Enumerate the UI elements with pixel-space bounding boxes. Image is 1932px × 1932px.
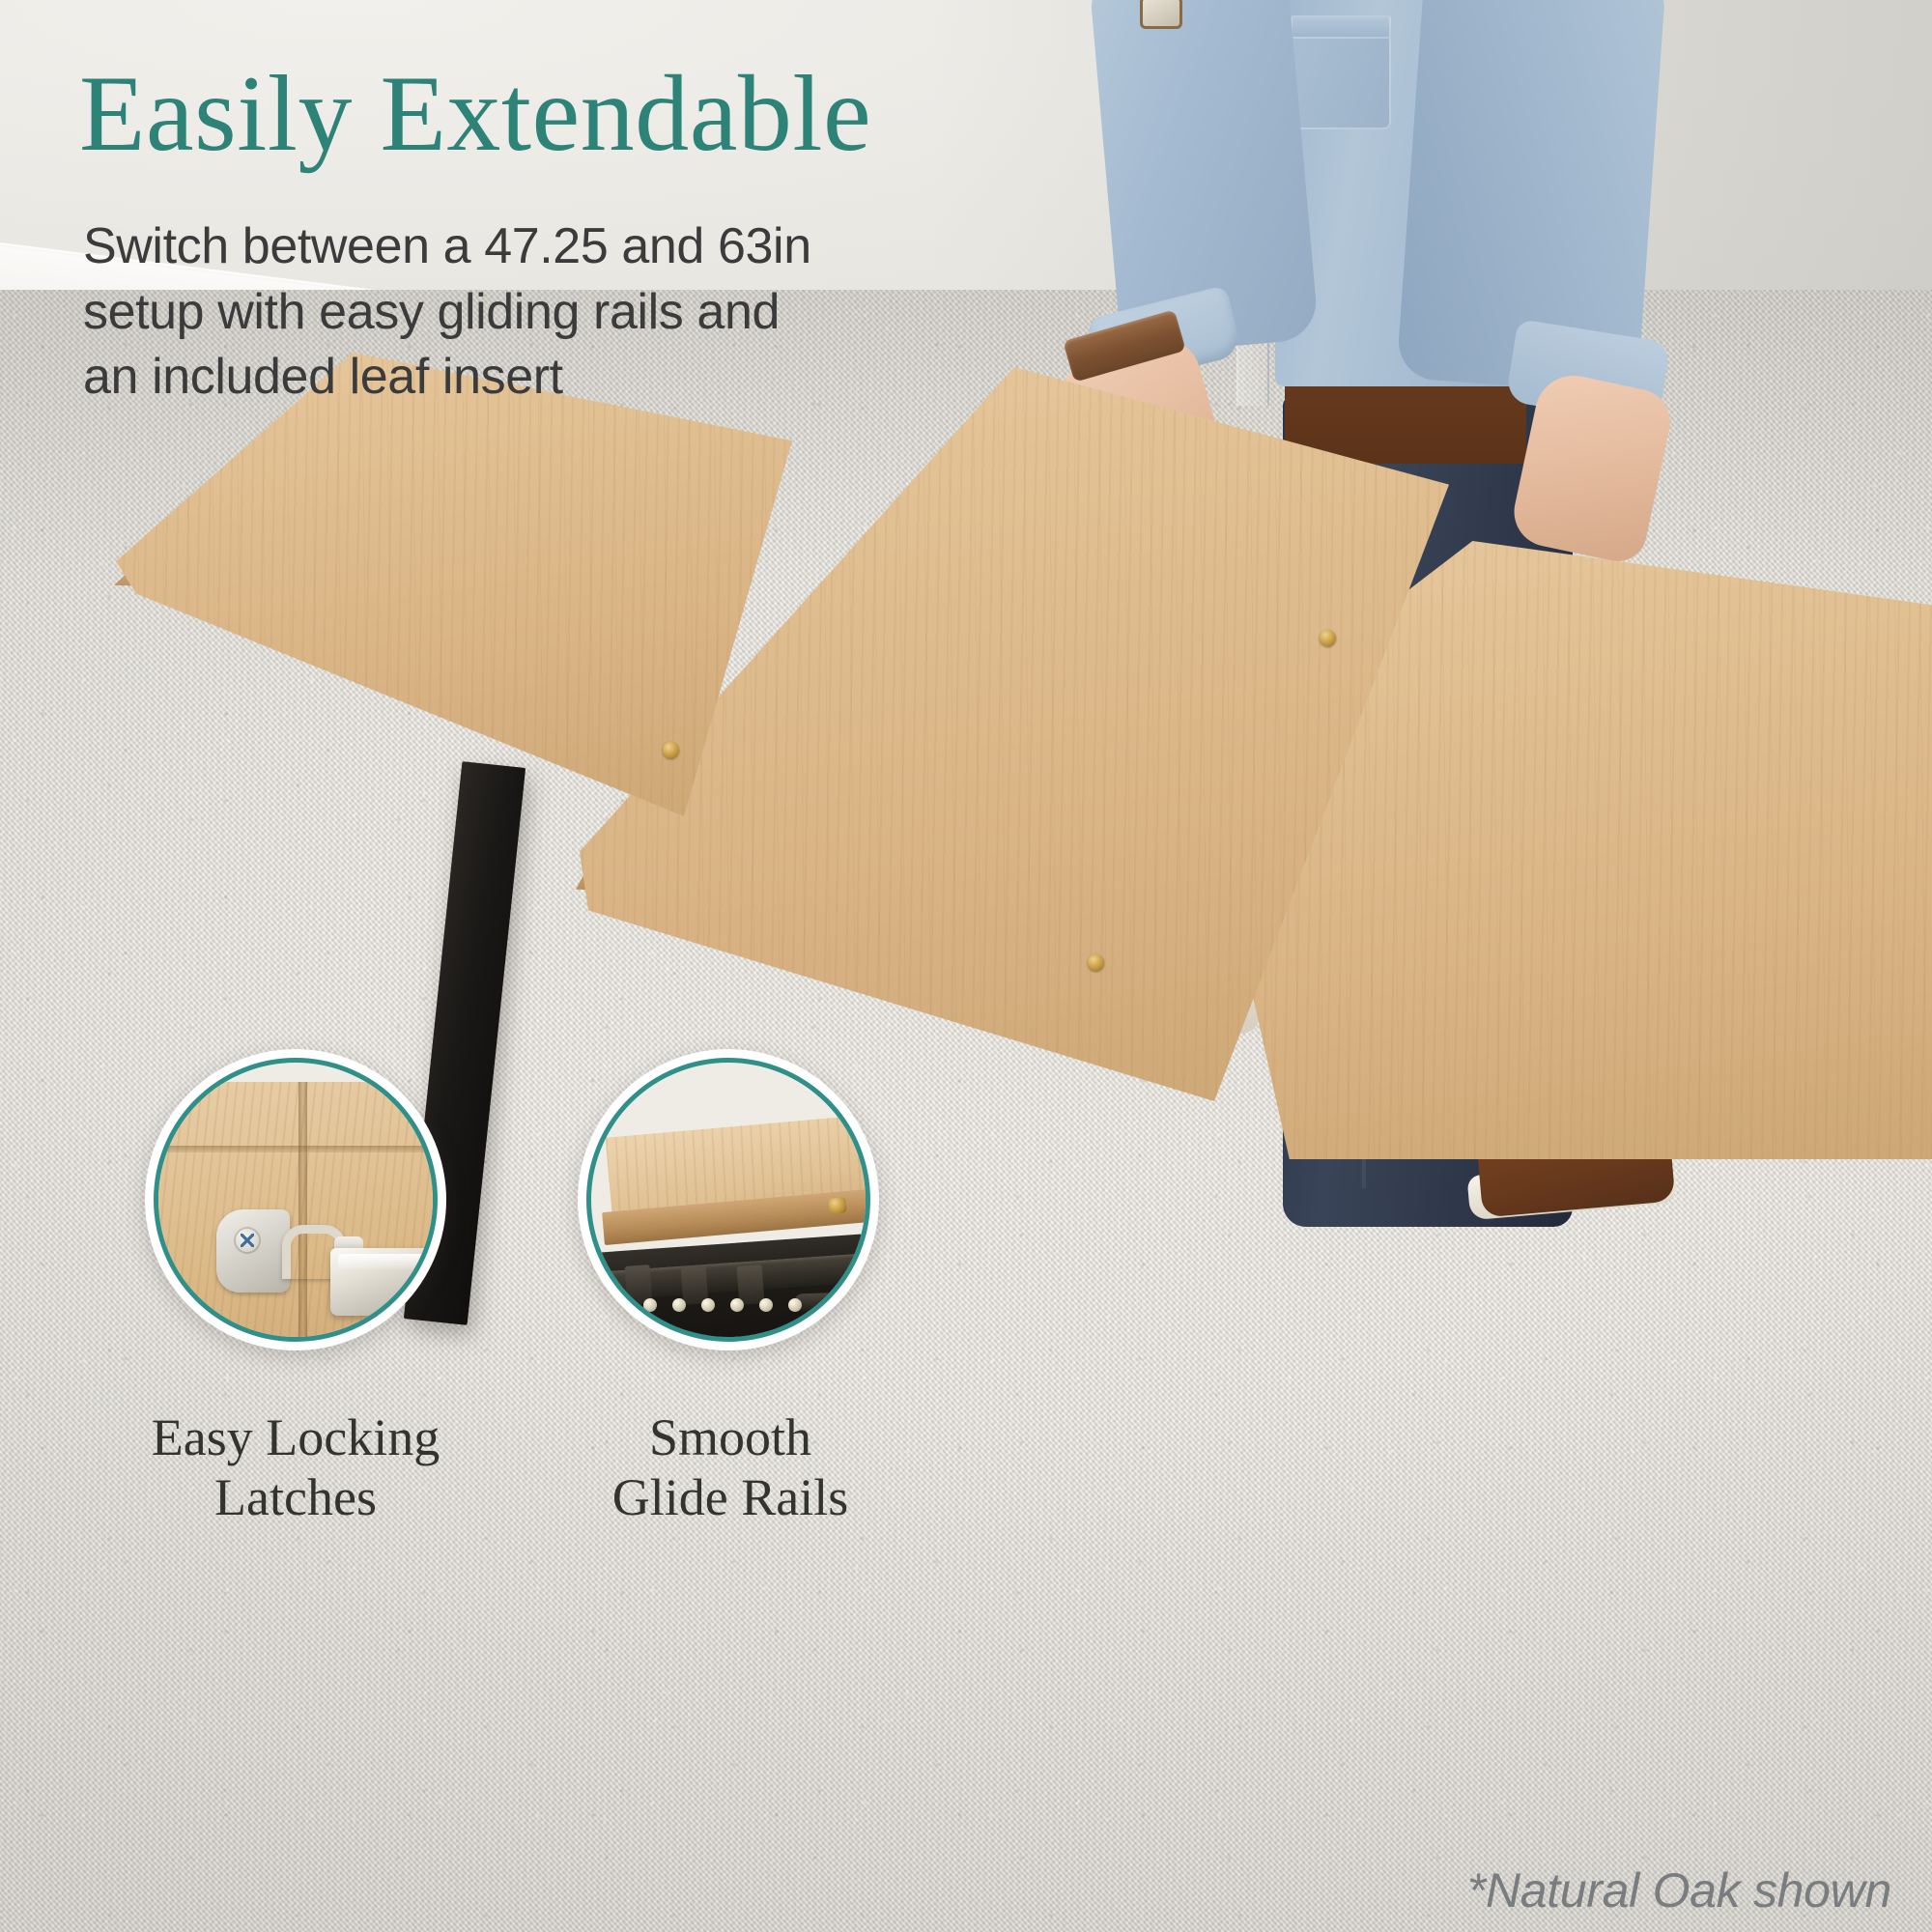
- brass-alignment-pin: [828, 1197, 846, 1214]
- latch-screw: [234, 1227, 261, 1254]
- feature-description: Switch between a 47.25 and 63in setup wi…: [83, 214, 885, 411]
- feature-description-line-1: Switch between a 47.25 and 63in: [83, 214, 885, 280]
- caption-line-1: Easy Locking: [93, 1408, 498, 1468]
- inset-ring-teal: [154, 1058, 438, 1342]
- rail-release-lever: [794, 1291, 870, 1311]
- product-feature-graphic: Easily Extendable Switch between a 47.25…: [0, 0, 1932, 1932]
- brass-alignment-pin: [663, 742, 679, 758]
- finish-disclaimer: *Natural Oak shown: [1467, 1862, 1891, 1918]
- caption-line-2: Glide Rails: [527, 1468, 933, 1528]
- brass-alignment-pin: [1088, 954, 1104, 971]
- inset-ring-teal: [586, 1058, 870, 1342]
- shirt-pocket: [1291, 37, 1391, 129]
- caption-smooth-glide-rails: Smooth Glide Rails: [527, 1408, 933, 1527]
- caption-easy-locking-latches: Easy Locking Latches: [93, 1408, 498, 1527]
- leaf-seam-horizontal: [154, 1146, 438, 1152]
- page-title: Easily Extendable: [79, 60, 871, 168]
- feature-description-line-2: setup with easy gliding rails and: [83, 280, 885, 346]
- inset-smooth-glide-rails: [578, 1049, 879, 1350]
- caption-line-2: Latches: [93, 1468, 498, 1528]
- brass-alignment-pin: [1320, 630, 1336, 646]
- inset-easy-locking-latches: [145, 1049, 446, 1350]
- feature-description-line-3: an included leaf insert: [83, 345, 885, 411]
- watch-face: [1140, 0, 1182, 29]
- leaf-seam-vertical: [298, 1082, 307, 1342]
- latch-lever-highlight: [338, 1254, 431, 1269]
- caption-line-1: Smooth: [527, 1408, 933, 1468]
